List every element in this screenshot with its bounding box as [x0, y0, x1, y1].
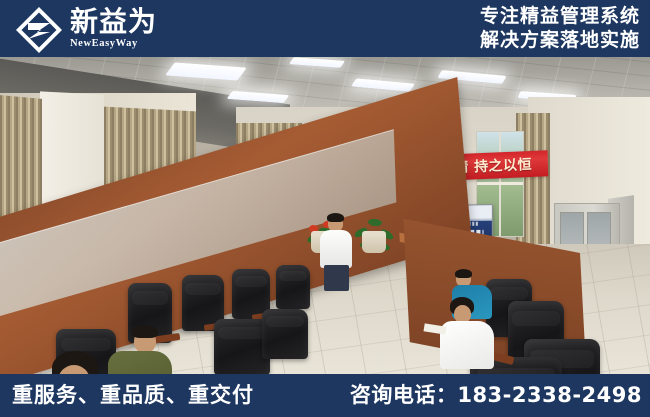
- diamond-z-logo-icon: [14, 5, 64, 55]
- attendee-left-olive: [108, 329, 174, 374]
- slogan-line-1: 专注精益管理系统: [480, 4, 640, 28]
- conference-room-photo: 全员参与 规范管理 精益求精 持之以恒: [0, 57, 650, 374]
- footer-tagline: 重服务、重品质、重交付: [12, 382, 254, 409]
- footer-contact[interactable]: 咨询电话：183-2338-2498: [350, 382, 642, 409]
- slogan-line-2: 解决方案落地实施: [480, 28, 640, 52]
- attendee-left-blue: [36, 357, 114, 374]
- office-chair: [276, 265, 310, 309]
- presenter-standing: [316, 215, 356, 291]
- brand-name-cn: 新益为: [70, 7, 157, 37]
- brand-logo[interactable]: 新益为 NewEasyWay: [14, 5, 157, 55]
- brand-name-en: NewEasyWay: [70, 38, 157, 50]
- office-chair: [262, 309, 308, 359]
- brand-logo-text: 新益为 NewEasyWay: [70, 5, 157, 50]
- promotional-banner: 新益为 NewEasyWay 专注精益管理系统 解决方案落地实施: [0, 0, 650, 417]
- contact-label: 咨询电话：: [350, 383, 458, 407]
- contact-phone: 183-2338-2498: [457, 383, 642, 407]
- footer-bar: 重服务、重品质、重交付 咨询电话：183-2338-2498: [0, 374, 650, 417]
- attendee-right-front: [438, 301, 496, 369]
- header-bar: 新益为 NewEasyWay 专注精益管理系统 解决方案落地实施: [0, 0, 650, 57]
- header-slogan: 专注精益管理系统 解决方案落地实施: [480, 4, 640, 52]
